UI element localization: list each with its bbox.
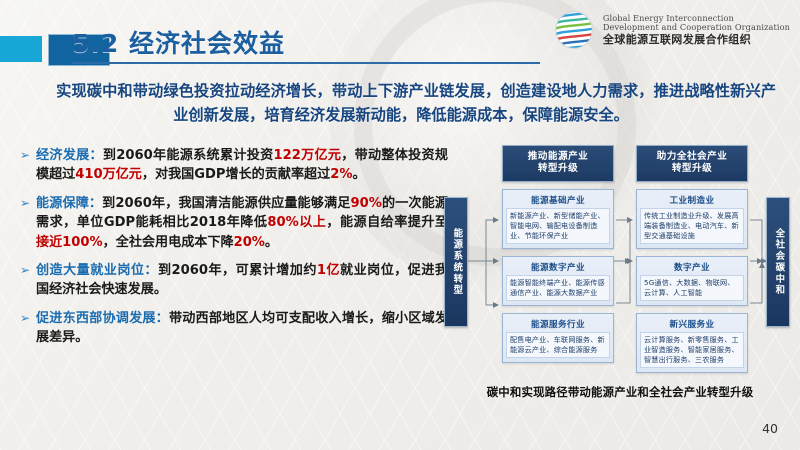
bullet-item: ➢能源保障：到2060年，我国清洁能源供应量能够满足90%的一次能源需求，单位G… <box>18 194 448 252</box>
highlighted-value: 1亿 <box>317 263 340 278</box>
node-body: 新能源产业、新型储能产业、智能电网、输配电设备制造业、节能环保产业 <box>506 208 610 244</box>
bullet-segment: 。 <box>352 167 365 182</box>
diagram-column-header: 推动能源产业 转型升级 <box>502 145 614 182</box>
bullet-segment: 到2060年，可累计增加约 <box>158 263 317 278</box>
logo-english-line-2: Development and Cooperation Organization <box>603 23 790 32</box>
page-number: 40 <box>762 421 778 436</box>
bullet-text: 创造大量就业岗位：到2060年，可累计增加约1亿就业岗位，促进我国经济社会快速发… <box>36 261 448 300</box>
bullet-arrow-icon: ➢ <box>18 146 36 185</box>
lead-paragraph: 实现碳中和带动绿色投资拉动经济增长，带动上下游产业链发展，创造建设地人力需求，推… <box>26 80 776 127</box>
node-body: 能源智能终端产业、能源传感通信产业、能源大数据产业 <box>506 275 610 301</box>
highlighted-value: 122万亿元 <box>273 148 341 163</box>
bullet-arrow-icon: ➢ <box>18 194 36 252</box>
diagram-node: 能源基础产业 新能源产业、新型储能产业、智能电网、输配电设备制造业、节能环保产业 <box>502 189 614 249</box>
bullet-list: ➢经济发展：到2060年能源系统累计投资122万亿元，带动整体投资规模超过410… <box>18 146 448 356</box>
lead-paragraph-text: 实现碳中和带动绿色投资拉动经济增长，带动上下游产业链发展，创造建设地人力需求，推… <box>56 82 776 124</box>
highlighted-value: 接近100% <box>36 235 103 250</box>
column-header-line-1: 推动能源产业 <box>505 151 611 163</box>
diagram-caption: 碳中和实现路径带动能源产业和全社会产业转型升级 <box>448 384 792 400</box>
bullet-heading: 创造大量就业岗位： <box>36 263 158 278</box>
organization-logo: Global Energy Interconnection Developmen… <box>552 8 790 52</box>
diagram-node: 能源数字产业 能源智能终端产业、能源传感通信产业、能源大数据产业 <box>502 256 614 306</box>
node-body: 5G通信、大数据、物联网、云计算、人工智能 <box>640 275 744 301</box>
header-divider <box>72 62 540 64</box>
column-header-line-1: 助力全社会产业 <box>639 151 745 163</box>
bullet-arrow-icon: ➢ <box>18 309 36 348</box>
bullet-segment: ，全社会用电成本下降 <box>103 235 234 250</box>
diagram-node: 工业制造业 传统工业制造业升级、发展高端装备制造业、电动汽车、新型交通基础设施 <box>636 189 748 249</box>
highlighted-value: 2% <box>330 167 352 182</box>
column-header-line-2: 转型升级 <box>639 163 745 175</box>
logo-chinese-name: 全球能源互联网发展合作组织 <box>603 34 790 46</box>
diagram-column-energy: 推动能源产业 转型升级 能源基础产业 新能源产业、新型储能产业、智能电网、输配电… <box>502 145 614 363</box>
diagram-left-label: 能源系统转型 <box>444 197 468 327</box>
diagram-node: 新兴服务业 云计算服务、新零售服务、工业智造服务、智能家居服务、智慧出行服务、三… <box>636 313 748 373</box>
node-body: 云计算服务、新零售服务、工业智造服务、智能家居服务、智慧出行服务、三农服务 <box>640 332 744 368</box>
highlighted-value: 20% <box>234 235 265 250</box>
diagram-column-society: 助力全社会产业 转型升级 工业制造业 传统工业制造业升级、发展高端装备制造业、电… <box>636 145 748 373</box>
node-body: 传统工业制造业升级、发展高端装备制造业、电动汽车、新型交通基础设施 <box>640 208 744 244</box>
node-title: 能源服务行业 <box>506 317 610 332</box>
bullet-segment: ，能源自给率提升至 <box>326 215 448 230</box>
bullet-segment: 。 <box>265 235 278 250</box>
column-header-line-2: 转型升级 <box>505 163 611 175</box>
bullet-segment: 到2060年能源系统累计投资 <box>103 148 274 163</box>
diagram-node: 数字产业 5G通信、大数据、物联网、云计算、人工智能 <box>636 256 748 306</box>
globe-network-icon <box>552 8 596 52</box>
bullet-heading: 经济发展： <box>36 148 103 163</box>
node-title: 工业制造业 <box>640 193 744 208</box>
node-title: 能源数字产业 <box>506 260 610 275</box>
bullet-segment: ，对我国GDP增长的贡献率超过 <box>142 167 330 182</box>
diagram-right-label: 全社会碳中和 <box>766 197 790 327</box>
diagram-node: 能源服务行业 配售电产业、车联网服务、新能源云产业、综合能源服务 <box>502 313 614 363</box>
bullet-item: ➢经济发展：到2060年能源系统累计投资122万亿元，带动整体投资规模超过410… <box>18 146 448 185</box>
bullet-heading: 能源保障： <box>36 196 102 211</box>
bullet-item: ➢促进东西部协调发展：带动西部地区人均可支配收入增长，缩小区域发展差异。 <box>18 309 448 348</box>
highlighted-value: 80%以上 <box>267 215 326 230</box>
node-title: 数字产业 <box>640 260 744 275</box>
bullet-text: 经济发展：到2060年能源系统累计投资122万亿元，带动整体投资规模超过410万… <box>36 146 448 185</box>
page-title: 5.2 经济社会效益 <box>72 24 285 60</box>
highlighted-value: 90% <box>351 196 382 211</box>
slide-canvas: 5.2 经济社会效益 Global Energy Interconnection… <box>0 0 800 450</box>
highlighted-value: 410万亿元 <box>75 167 142 182</box>
diagram-column-header: 助力全社会产业 转型升级 <box>636 145 748 182</box>
bullet-text: 能源保障：到2060年，我国清洁能源供应量能够满足90%的一次能源需求，单位GD… <box>36 194 448 252</box>
node-title: 能源基础产业 <box>506 193 610 208</box>
transition-diagram: 能源系统转型 全社会碳中和 推动能源产业 转型升级 能源基础产业 新能源产业、新… <box>440 145 792 377</box>
bullet-item: ➢创造大量就业岗位：到2060年，可累计增加约1亿就业岗位，促进我国经济社会快速… <box>18 261 448 300</box>
bullet-arrow-icon: ➢ <box>18 261 36 300</box>
header-accent-block-cyan <box>0 36 42 62</box>
bullet-heading: 促进东西部协调发展： <box>36 311 169 326</box>
node-body: 配售电产业、车联网服务、新能源云产业、综合能源服务 <box>506 332 610 358</box>
bullet-segment: 到2060年，我国清洁能源供应量能够满足 <box>102 196 350 211</box>
bullet-text: 促进东西部协调发展：带动西部地区人均可支配收入增长，缩小区域发展差异。 <box>36 309 448 348</box>
node-title: 新兴服务业 <box>640 317 744 332</box>
